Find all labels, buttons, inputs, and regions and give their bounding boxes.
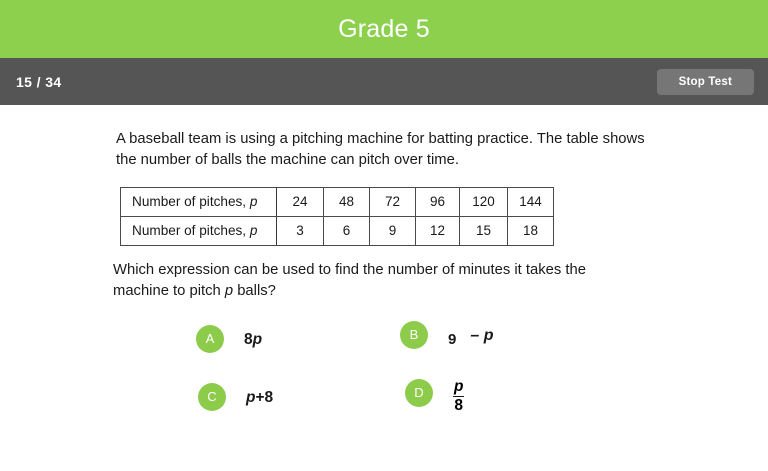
test-toolbar: 15 / 34 Stop Test: [0, 58, 768, 105]
choice-c-rest: +8: [255, 389, 273, 406]
page-title: Grade 5: [338, 15, 430, 44]
table-row: Number of pitches, p 24 48 72 96 120 144: [121, 187, 554, 216]
table-row-label: Number of pitches, p: [121, 216, 277, 245]
prompt-text-part1: Which expression can be used to find the…: [113, 262, 586, 299]
question-prompt: Which expression can be used to find the…: [113, 260, 633, 303]
row-label-text: Number of pitches,: [132, 194, 250, 209]
question-stem: A baseball team is using a pitching mach…: [116, 129, 646, 172]
choice-a-variable: p: [253, 331, 262, 348]
row-label-text: Number of pitches,: [132, 223, 250, 238]
choice-bubble-d[interactable]: D: [405, 379, 433, 407]
table-cell: 24: [277, 187, 324, 216]
stop-test-button[interactable]: Stop Test: [657, 69, 754, 95]
answer-choice-a[interactable]: A 8p: [196, 325, 262, 353]
table-row-label: Number of pitches, p: [121, 187, 277, 216]
pitching-data-table-wrapper: Number of pitches, p 24 48 72 96 120 144…: [120, 187, 768, 246]
table-cell: 15: [460, 216, 508, 245]
answer-choice-d[interactable]: D p 8: [405, 379, 464, 415]
table-cell: 3: [277, 216, 324, 245]
prompt-text-part2: balls?: [233, 283, 276, 299]
choice-expression-a: 8p: [244, 325, 262, 349]
table-cell: 120: [460, 187, 508, 216]
table-cell: 6: [324, 216, 370, 245]
choice-a-coefficient: 8: [244, 331, 253, 348]
choice-expression-b: 9– p: [448, 321, 493, 349]
question-area: A baseball team is using a pitching mach…: [0, 105, 768, 455]
choice-d-numerator: p: [453, 379, 464, 397]
table-cell: 12: [416, 216, 460, 245]
prompt-variable: p: [225, 283, 233, 299]
table-cell: 18: [508, 216, 554, 245]
answer-choice-b[interactable]: B 9– p: [400, 321, 493, 349]
choice-b-left-operand: 9: [448, 329, 456, 348]
choice-bubble-c[interactable]: C: [198, 383, 226, 411]
pitching-data-table: Number of pitches, p 24 48 72 96 120 144…: [120, 187, 554, 246]
choice-b-right-operand: – p: [470, 327, 493, 345]
choice-bubble-b[interactable]: B: [400, 321, 428, 349]
table-cell: 48: [324, 187, 370, 216]
choice-bubble-a[interactable]: A: [196, 325, 224, 353]
choice-expression-d: p 8: [453, 379, 464, 415]
choice-d-denominator: 8: [453, 397, 464, 414]
choice-expression-c: p+8: [246, 383, 273, 407]
table-cell: 144: [508, 187, 554, 216]
table-cell: 72: [370, 187, 416, 216]
answer-choice-list: A 8p B 9– p C p+8 D p 8: [0, 325, 768, 455]
table-cell: 96: [416, 187, 460, 216]
row-label-variable: p: [250, 194, 258, 209]
app-title-bar: Grade 5: [0, 0, 768, 58]
row-label-variable: p: [250, 223, 258, 238]
table-cell: 9: [370, 216, 416, 245]
table-row: Number of pitches, p 3 6 9 12 15 18: [121, 216, 554, 245]
answer-choice-c[interactable]: C p+8: [198, 383, 273, 411]
question-progress-counter: 15 / 34: [16, 74, 62, 90]
